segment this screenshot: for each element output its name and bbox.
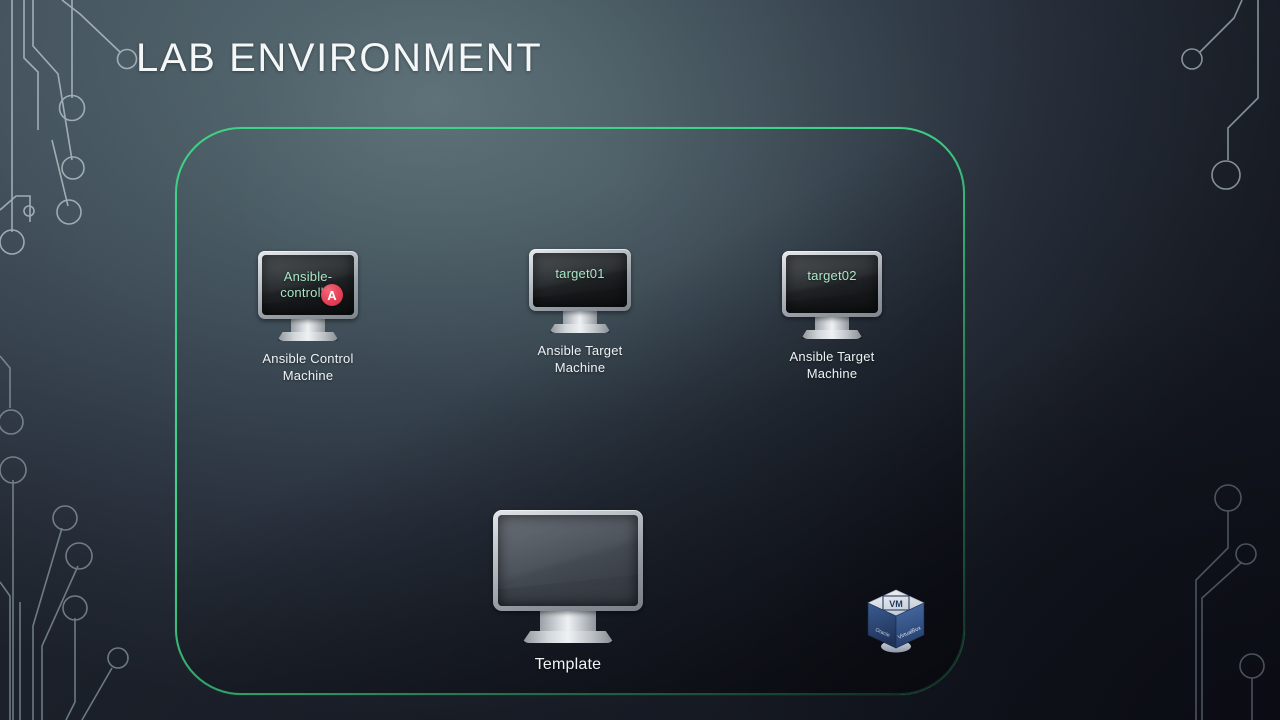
vbox-top-face-text: VM [889,599,903,609]
monitor-screen: target02 [786,255,878,313]
monitor-neck [815,317,849,330]
node-caption-line1: Ansible Target [529,343,631,360]
monitor-graphic: Ansible-controller A [258,251,358,341]
node-caption-line2: Machine [529,360,631,377]
node-caption: Ansible Target Machine [782,349,882,382]
node-caption: Ansible Control Machine [258,351,358,384]
monitor-neck [540,611,596,631]
monitor-base [801,330,863,339]
ansible-logo-icon: A [321,284,343,306]
monitor-base [277,332,339,341]
monitor-screen [498,515,638,606]
monitor-bezel: target01 [529,249,631,311]
node-caption-line1: Ansible Control [258,351,358,368]
node-caption-line2: Machine [258,368,358,385]
node-target01[interactable]: target01 Ansible Target Machine [529,249,631,376]
monitor-bezel: target02 [782,251,882,317]
virtualbox-logo-icon: VM Oracle VirtualBox [864,588,928,656]
monitor-base [549,324,611,333]
monitor-screen: target01 [533,253,627,307]
node-caption: Ansible Target Machine [529,343,631,376]
monitor-graphic: target01 [529,249,631,333]
monitor-neck [563,311,597,324]
monitor-bezel [493,510,643,611]
monitor-screen: Ansible-controller A [262,255,354,315]
slide-title: LAB ENVIRONMENT [136,36,542,81]
screen-hostname-label: target02 [801,268,862,284]
monitor-graphic: target02 [782,251,882,339]
monitor-bezel: Ansible-controller A [258,251,358,319]
slide-canvas: LAB ENVIRONMENT Ansible-controller A Ans… [0,0,1280,720]
monitor-graphic [493,510,643,643]
node-caption-line1: Ansible Target [782,349,882,366]
node-caption: Template [493,655,643,675]
node-template[interactable]: Template [493,510,643,675]
monitor-neck [291,319,325,332]
node-target02[interactable]: target02 Ansible Target Machine [782,251,882,382]
node-ansible-controller[interactable]: Ansible-controller A Ansible Control Mac… [258,251,358,384]
monitor-base [522,631,614,643]
screen-hostname-label: target01 [549,266,610,282]
node-caption-line2: Machine [782,366,882,383]
